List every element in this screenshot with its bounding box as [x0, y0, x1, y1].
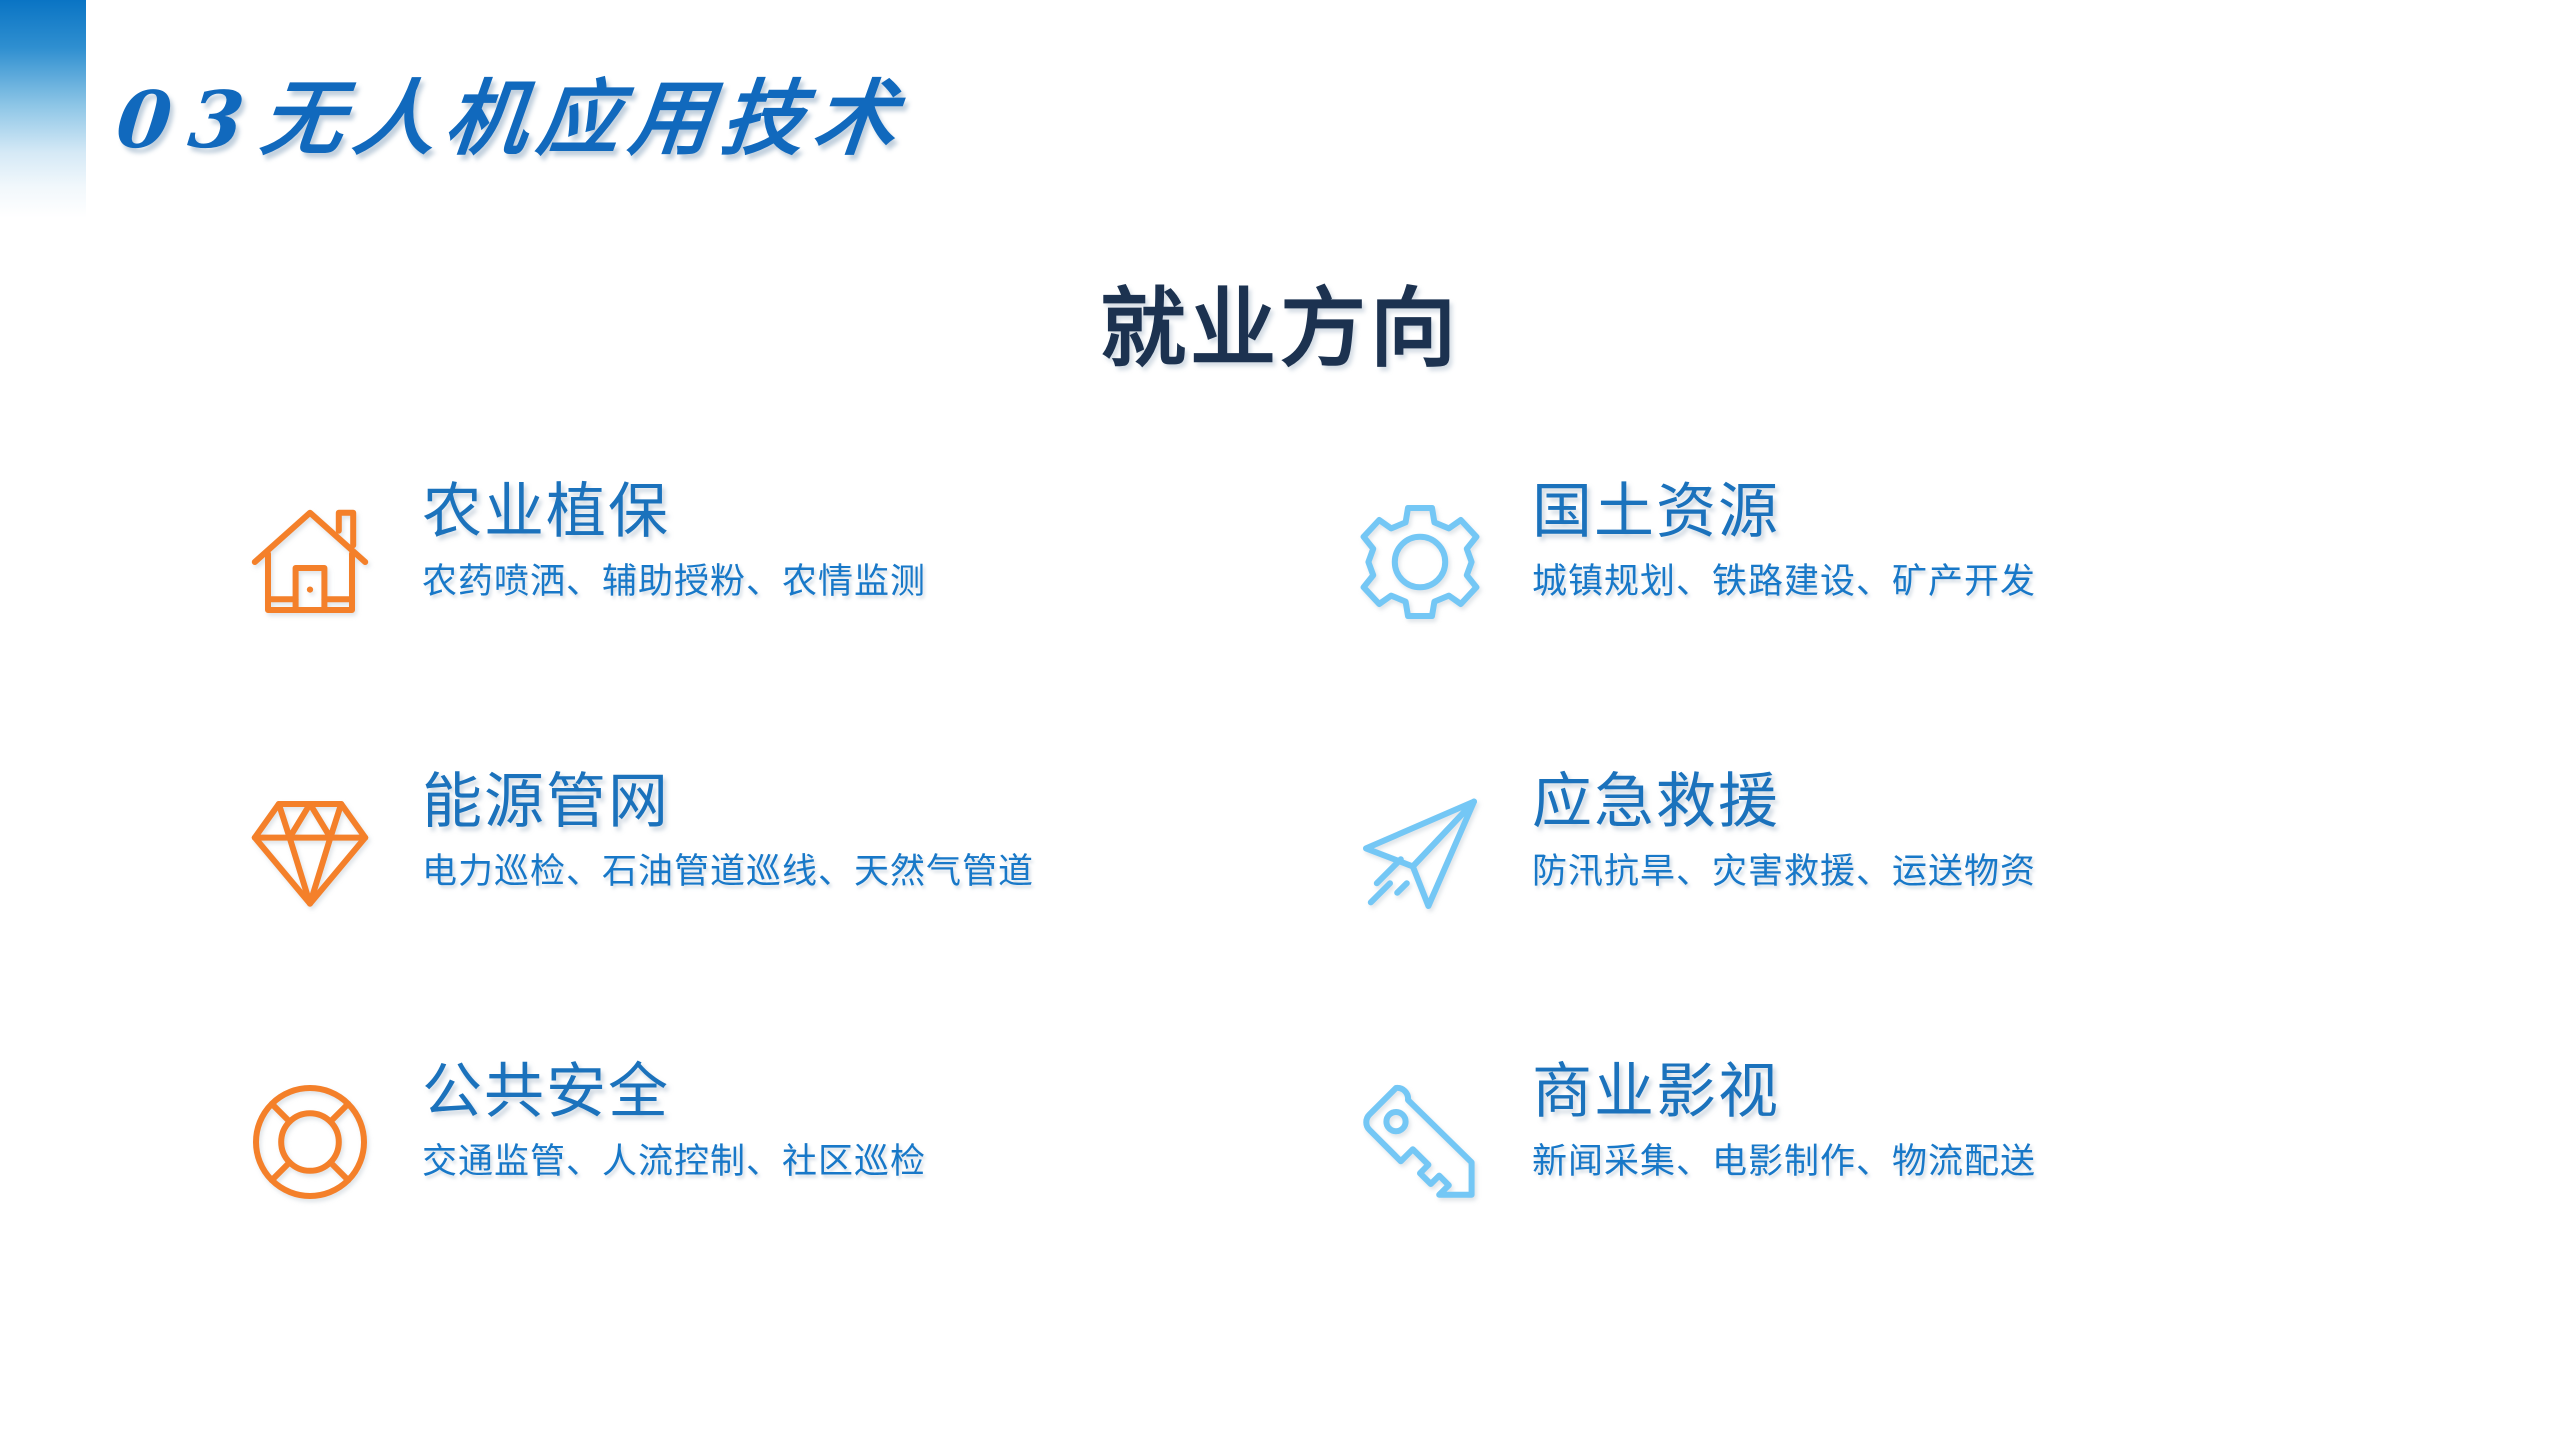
list-item[interactable]: 农业植保 农药喷洒、辅助授粉、农情监测 [250, 480, 1370, 770]
diamond-icon [250, 792, 370, 912]
section-number: 03 [112, 75, 266, 166]
lifebuoy-icon [250, 1082, 370, 1202]
right-column: 国土资源 城镇规划、铁路建设、矿产开发 应急救援 防汛抗旱、灾害救援、运送物资 [1360, 480, 2480, 1350]
item-text: 应急救援 防汛抗旱、灾害救援、运送物资 [1532, 770, 2036, 891]
corner-gradient-bar [0, 0, 86, 218]
item-text: 能源管网 电力巡检、石油管道巡线、天然气管道 [422, 770, 1034, 891]
item-description: 交通监管、人流控制、社区巡检 [422, 1143, 926, 1182]
item-description: 新闻采集、电影制作、物流配送 [1532, 1143, 2036, 1182]
item-description: 电力巡检、石油管道巡线、天然气管道 [422, 853, 1034, 892]
section-title-text: 无人机应用技术 [257, 71, 911, 167]
list-item[interactable]: 公共安全 交通监管、人流控制、社区巡检 [250, 1060, 1370, 1350]
house-icon [250, 502, 370, 622]
paper-plane-icon [1360, 792, 1480, 912]
page-title: 就业方向 [0, 258, 2560, 383]
item-title: 商业影视 [1532, 1060, 2036, 1125]
item-text: 公共安全 交通监管、人流控制、社区巡检 [422, 1060, 926, 1181]
list-item[interactable]: 国土资源 城镇规划、铁路建设、矿产开发 [1360, 480, 2480, 770]
item-title: 农业植保 [422, 480, 926, 545]
list-item[interactable]: 商业影视 新闻采集、电影制作、物流配送 [1360, 1060, 2480, 1350]
item-text: 国土资源 城镇规划、铁路建设、矿产开发 [1532, 480, 2036, 601]
item-title: 公共安全 [422, 1060, 926, 1125]
item-description: 防汛抗旱、灾害救援、运送物资 [1532, 853, 2036, 892]
list-item[interactable]: 应急救援 防汛抗旱、灾害救援、运送物资 [1360, 770, 2480, 1060]
left-column: 农业植保 农药喷洒、辅助授粉、农情监测 能源管网 电力巡检、石油管道巡线、天然气… [250, 480, 1370, 1350]
list-item[interactable]: 能源管网 电力巡检、石油管道巡线、天然气管道 [250, 770, 1370, 1060]
item-text: 农业植保 农药喷洒、辅助授粉、农情监测 [422, 480, 926, 601]
item-title: 国土资源 [1532, 480, 2036, 545]
section-title: 03无人机应用技术 [112, 52, 913, 171]
item-title: 能源管网 [422, 770, 1034, 835]
gear-icon [1360, 502, 1480, 622]
item-description: 农药喷洒、辅助授粉、农情监测 [422, 563, 926, 602]
key-icon [1360, 1082, 1480, 1202]
item-title: 应急救援 [1532, 770, 2036, 835]
item-description: 城镇规划、铁路建设、矿产开发 [1532, 563, 2036, 602]
item-text: 商业影视 新闻采集、电影制作、物流配送 [1532, 1060, 2036, 1181]
